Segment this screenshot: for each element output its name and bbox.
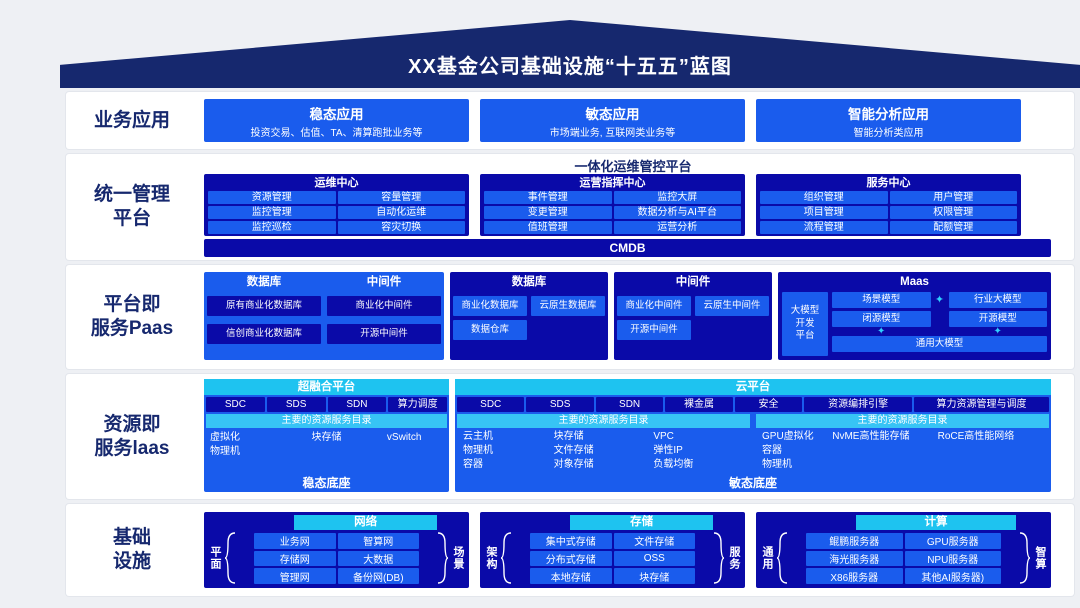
- layer-label-infrastructure: 基础 设施: [66, 504, 198, 596]
- center-title: 服务中心: [758, 176, 1019, 190]
- paas-chip[interactable]: 商业化数据库: [453, 296, 527, 316]
- center-card-service[interactable]: 服务中心 组织管理 用户管理 项目管理 权限管理 流程管理 配额管理: [756, 174, 1021, 236]
- app-card-subtitle: 智能分析类应用: [854, 124, 924, 139]
- arrow-up-icon: ✦: [832, 328, 931, 335]
- center-chip[interactable]: 事件管理: [484, 191, 612, 204]
- center-title: 运维中心: [206, 176, 467, 190]
- paas-chip[interactable]: 信创商业化数据库: [207, 324, 321, 344]
- infra-cell[interactable]: 管理网: [254, 568, 336, 584]
- paas-chip[interactable]: 开源中间件: [327, 324, 441, 344]
- service-item[interactable]: VPC: [653, 430, 744, 444]
- iaas-tab-sds[interactable]: SDS: [267, 397, 326, 412]
- service-item-empty: [832, 458, 937, 472]
- layer-body-iaas: 超融合平台 SDC SDS SDN 算力调度 主要的资源服务目录 虚拟化 块存储…: [198, 374, 1068, 499]
- brace-right-icon: [1019, 532, 1031, 584]
- infra-cell[interactable]: 集中式存储: [530, 533, 612, 549]
- cmdb-bar[interactable]: CMDB: [204, 239, 1051, 257]
- center-chip[interactable]: 运营分析: [614, 221, 742, 234]
- iaas-base-stable: 稳态底座: [204, 475, 449, 492]
- infra-right-word: 服务: [727, 532, 741, 584]
- app-card-intelligent[interactable]: 智能分析应用 智能分析类应用: [756, 99, 1021, 142]
- iaas-head: 超融合平台: [204, 379, 449, 395]
- paas-chip-empty: [531, 320, 605, 340]
- infra-cell-grid: 业务网 智算网 存储网 大数据 管理网 备份网(DB): [254, 533, 419, 584]
- service-item[interactable]: 文件存储: [554, 444, 654, 458]
- paas-col-head: 中间件: [617, 275, 769, 290]
- paas-col-head: 数据库: [453, 275, 605, 290]
- infra-cell[interactable]: 存储网: [254, 551, 336, 567]
- iaas-base-agile: 敏态底座: [455, 475, 1051, 492]
- page-title: XX基金公司基础设施“十五五”蓝图: [60, 50, 1080, 79]
- service-item-empty: [938, 458, 1043, 472]
- infra-block-storage: 存储 架构 集中式存储 文件存储 分布式存储 OSS 本地存储 块存储 服务: [480, 512, 745, 588]
- center-chip[interactable]: 项目管理: [760, 206, 888, 219]
- center-chip-grid: 组织管理 用户管理 项目管理 权限管理 流程管理 配额管理: [758, 190, 1019, 236]
- maas-dev-platform[interactable]: 大模型 开发 平台: [782, 292, 828, 356]
- layer-label-iaas: 资源即 服务laas: [66, 374, 198, 499]
- infra-cell[interactable]: 海光服务器: [806, 551, 903, 567]
- infra-left-word: 架构: [484, 532, 498, 584]
- layer-body-business: 稳态应用 投资交易、估值、TA、清算跑批业务等 敏态应用 市场端业务, 互联网类…: [198, 92, 1068, 149]
- layer-label-management: 统一管理 平台: [66, 154, 198, 260]
- iaas-head: 云平台: [455, 379, 1051, 395]
- service-item[interactable]: RoCE高性能网络: [938, 430, 1043, 444]
- maas-chip-scene[interactable]: 场景模型: [832, 292, 931, 308]
- infra-head-network: 网络: [294, 515, 437, 530]
- infra-cell[interactable]: OSS: [614, 551, 696, 567]
- service-item-empty: [832, 444, 937, 458]
- layer-infrastructure: 基础 设施 网络 平面 业务网 智算网 存储网 大数据 管理网 备份网(DB): [66, 504, 1074, 596]
- plus-icon: ✦: [933, 292, 947, 308]
- infra-cell[interactable]: 分布式存储: [530, 551, 612, 567]
- iaas-tab-row: SDC SDS SDN 裸金属 安全 资源编排引擎 算力资源管理与调度: [455, 395, 1051, 412]
- center-card-ops[interactable]: 运维中心 资源管理 容量管理 监控管理 自动化运维 监控巡检 容灾切换: [204, 174, 469, 236]
- service-item-empty: [288, 445, 366, 459]
- infra-cell[interactable]: 智算网: [338, 533, 420, 549]
- center-chip[interactable]: 数据分析与AI平台: [614, 206, 742, 219]
- title-banner: XX基金公司基础设施“十五五”蓝图: [60, 20, 1080, 88]
- app-card-title: 智能分析应用: [848, 103, 929, 123]
- service-item-empty: [365, 445, 443, 459]
- center-chip[interactable]: 容灾切换: [338, 221, 466, 234]
- iaas-tab-sdc[interactable]: SDC: [457, 397, 524, 412]
- infra-right-word: 场景: [451, 532, 465, 584]
- layer-unified-management: 统一管理 平台 一体化运维管控平台 运维中心 资源管理 容量管理 监控管理 自动…: [66, 154, 1074, 260]
- service-item[interactable]: 负载均衡: [653, 458, 744, 472]
- service-item[interactable]: 对象存储: [554, 458, 654, 472]
- iaas-tab-sdc[interactable]: SDC: [206, 397, 265, 412]
- brace-left-icon: [776, 532, 788, 584]
- center-chip[interactable]: 容量管理: [338, 191, 466, 204]
- center-card-operations[interactable]: 运营指挥中心 事件管理 监控大屏 变更管理 数据分析与AI平台 值班管理 运营分…: [480, 174, 745, 236]
- center-chip[interactable]: 监控管理: [208, 206, 336, 219]
- infra-cell[interactable]: X86服务器: [806, 568, 903, 584]
- maas-chip-industry[interactable]: 行业大模型: [949, 292, 1048, 308]
- center-title: 运营指挥中心: [482, 176, 743, 190]
- infra-cell[interactable]: 大数据: [338, 551, 420, 567]
- paas-col-head: 数据库: [207, 275, 321, 290]
- center-chip[interactable]: 用户管理: [890, 191, 1018, 204]
- layer-iaas: 资源即 服务laas 超融合平台 SDC SDS SDN 算力调度 主要的资源服…: [66, 374, 1074, 499]
- center-chip[interactable]: 流程管理: [760, 221, 888, 234]
- iaas-tab-compute-sched[interactable]: 算力调度: [388, 397, 447, 412]
- catalog-head: 主要的资源服务目录: [206, 414, 447, 428]
- infra-left-word: 通用: [760, 532, 774, 584]
- service-item[interactable]: 弹性IP: [653, 444, 744, 458]
- iaas-block-cloud: 云平台 SDC SDS SDN 裸金属 安全 资源编排引擎 算力资源管理与调度 …: [455, 379, 1051, 492]
- service-item[interactable]: 块存储: [288, 431, 366, 445]
- infra-cell[interactable]: 本地存储: [530, 568, 612, 584]
- layer-paas: 平台即 服务Paas 数据库 原有商业化数据库 信创商业化数据库 中间件 商业化…: [66, 265, 1074, 369]
- spacer: [933, 311, 947, 327]
- infra-cell[interactable]: 其他AI服务器): [905, 568, 1002, 584]
- center-chip[interactable]: 监控巡检: [208, 221, 336, 234]
- maas-model-grid: 场景模型 ✦ 行业大模型 闭源模型 开源模型 ✦ ✦ 通用大模型: [832, 292, 1047, 356]
- paas-chip[interactable]: 原有商业化数据库: [207, 296, 321, 316]
- infra-block-network: 网络 平面 业务网 智算网 存储网 大数据 管理网 备份网(DB) 场景: [204, 512, 469, 588]
- iaas-tab-orchestration[interactable]: 资源编排引擎: [804, 397, 912, 412]
- layer-business-applications: 业务应用 稳态应用 投资交易、估值、TA、清算跑批业务等 敏态应用 市场端业务,…: [66, 92, 1074, 149]
- infra-cell[interactable]: 备份网(DB): [338, 568, 420, 584]
- service-item[interactable]: 虚拟化: [210, 431, 288, 445]
- service-item[interactable]: NvME高性能存储: [832, 430, 937, 444]
- blueprint-diagram: XX基金公司基础设施“十五五”蓝图 业务应用 稳态应用 投资交易、估值、TA、清…: [0, 0, 1080, 608]
- iaas-tab-sds[interactable]: SDS: [526, 397, 593, 412]
- infra-cell[interactable]: 业务网: [254, 533, 336, 549]
- paas-col-head: 中间件: [327, 275, 441, 290]
- infra-cell-grid: 鲲鹏服务器 GPU服务器 海光服务器 NPU服务器 X86服务器 其他AI服务器…: [806, 533, 1001, 584]
- brace-left-icon: [500, 532, 512, 584]
- maas-chip-general[interactable]: 通用大模型: [832, 336, 1047, 352]
- paas-block-traditional: 数据库 原有商业化数据库 信创商业化数据库 中间件 商业化中间件 开源中间件: [204, 272, 444, 360]
- app-card-agile[interactable]: 敏态应用 市场端业务, 互联网类业务等: [480, 99, 745, 142]
- paas-block-database: 数据库 商业化数据库 云原生数据库 数据仓库: [450, 272, 608, 360]
- paas-block-middleware: 中间件 商业化中间件 云原生中间件 开源中间件: [614, 272, 772, 360]
- service-item[interactable]: 云主机: [463, 430, 554, 444]
- center-chip[interactable]: 组织管理: [760, 191, 888, 204]
- service-item[interactable]: 容器: [463, 458, 554, 472]
- brace-right-icon: [713, 532, 725, 584]
- arrow-up-icon: ✦: [949, 328, 1048, 335]
- center-chip[interactable]: 自动化运维: [338, 206, 466, 219]
- center-chip-grid: 事件管理 监控大屏 变更管理 数据分析与AI平台 值班管理 运营分析: [482, 190, 743, 236]
- service-item[interactable]: 容器: [762, 444, 832, 458]
- paas-chip[interactable]: 商业化中间件: [327, 296, 441, 316]
- infra-head-compute: 计算: [856, 515, 1015, 530]
- app-card-title: 敏态应用: [586, 103, 640, 123]
- brace-right-icon: [437, 532, 449, 584]
- layer-label-paas: 平台即 服务Paas: [66, 265, 198, 369]
- paas-chip[interactable]: 开源中间件: [617, 320, 691, 340]
- maas-chip-closed[interactable]: 闭源模型: [832, 311, 931, 327]
- paas-chip-empty: [695, 320, 769, 340]
- layer-body-infrastructure: 网络 平面 业务网 智算网 存储网 大数据 管理网 备份网(DB) 场景: [198, 504, 1068, 596]
- brace-left-icon: [224, 532, 236, 584]
- app-card-subtitle: 投资交易、估值、TA、清算跑批业务等: [250, 124, 422, 139]
- layer-label-business: 业务应用: [66, 92, 198, 149]
- iaas-tab-sdn[interactable]: SDN: [596, 397, 663, 412]
- maas-chip-open[interactable]: 开源模型: [949, 311, 1048, 327]
- center-chip[interactable]: 监控大屏: [614, 191, 742, 204]
- infra-cell[interactable]: 文件存储: [614, 533, 696, 549]
- app-card-subtitle: 市场端业务, 互联网类业务等: [550, 124, 676, 139]
- iaas-tab-compute-mgmt[interactable]: 算力资源管理与调度: [914, 397, 1049, 412]
- infra-block-compute: 计算 通用 鲲鹏服务器 GPU服务器 海光服务器 NPU服务器 X86服务器 其…: [756, 512, 1051, 588]
- service-item[interactable]: 物理机: [762, 458, 832, 472]
- center-chip[interactable]: 变更管理: [484, 206, 612, 219]
- center-chip-grid: 资源管理 容量管理 监控管理 自动化运维 监控巡检 容灾切换: [206, 190, 467, 236]
- catalog-head: 主要的资源服务目录: [457, 414, 750, 428]
- infra-cell[interactable]: 块存储: [614, 568, 696, 584]
- service-item[interactable]: GPU虚拟化: [762, 430, 832, 444]
- infra-cell-grid: 集中式存储 文件存储 分布式存储 OSS 本地存储 块存储: [530, 533, 695, 584]
- maas-head: Maas: [778, 272, 1051, 286]
- center-chip[interactable]: 值班管理: [484, 221, 612, 234]
- paas-chip[interactable]: 云原生数据库: [531, 296, 605, 316]
- center-chip[interactable]: 权限管理: [890, 206, 1018, 219]
- platform-title: 一体化运维管控平台: [198, 156, 1068, 175]
- infra-cell[interactable]: GPU服务器: [905, 533, 1002, 549]
- iaas-tab-security[interactable]: 安全: [735, 397, 802, 412]
- service-item-empty: [938, 444, 1043, 458]
- iaas-tab-row: SDC SDS SDN 算力调度: [204, 395, 449, 412]
- layer-body-paas: 数据库 原有商业化数据库 信创商业化数据库 中间件 商业化中间件 开源中间件 数…: [198, 265, 1068, 369]
- iaas-block-hyperconverged: 超融合平台 SDC SDS SDN 算力调度 主要的资源服务目录 虚拟化 块存储…: [204, 379, 449, 492]
- layer-body-management: 一体化运维管控平台 运维中心 资源管理 容量管理 监控管理 自动化运维 监控巡检…: [198, 154, 1068, 260]
- paas-chip[interactable]: 数据仓库: [453, 320, 527, 340]
- service-item[interactable]: 物理机: [210, 445, 288, 459]
- catalog-head: 主要的资源服务目录: [756, 414, 1049, 428]
- paas-chip[interactable]: 云原生中间件: [695, 296, 769, 316]
- infra-head-storage: 存储: [570, 515, 713, 530]
- app-card-title: 稳态应用: [310, 103, 364, 123]
- paas-block-maas: Maas 大模型 开发 平台 场景模型 ✦ 行业大模型 闭源模型 开源模型 ✦: [778, 272, 1051, 360]
- infra-cell[interactable]: 鲲鹏服务器: [806, 533, 903, 549]
- iaas-tab-sdn[interactable]: SDN: [328, 397, 387, 412]
- paas-chip[interactable]: 商业化中间件: [617, 296, 691, 316]
- service-item[interactable]: 物理机: [463, 444, 554, 458]
- infra-cell[interactable]: NPU服务器: [905, 551, 1002, 567]
- service-item[interactable]: vSwitch: [365, 431, 443, 445]
- service-item[interactable]: 块存储: [554, 430, 654, 444]
- center-chip[interactable]: 资源管理: [208, 191, 336, 204]
- app-card-stable[interactable]: 稳态应用 投资交易、估值、TA、清算跑批业务等: [204, 99, 469, 142]
- infra-left-word: 平面: [208, 532, 222, 584]
- infra-right-word: 智算: [1033, 532, 1047, 584]
- iaas-tab-baremetal[interactable]: 裸金属: [665, 397, 732, 412]
- center-chip[interactable]: 配额管理: [890, 221, 1018, 234]
- spacer: [933, 328, 947, 335]
